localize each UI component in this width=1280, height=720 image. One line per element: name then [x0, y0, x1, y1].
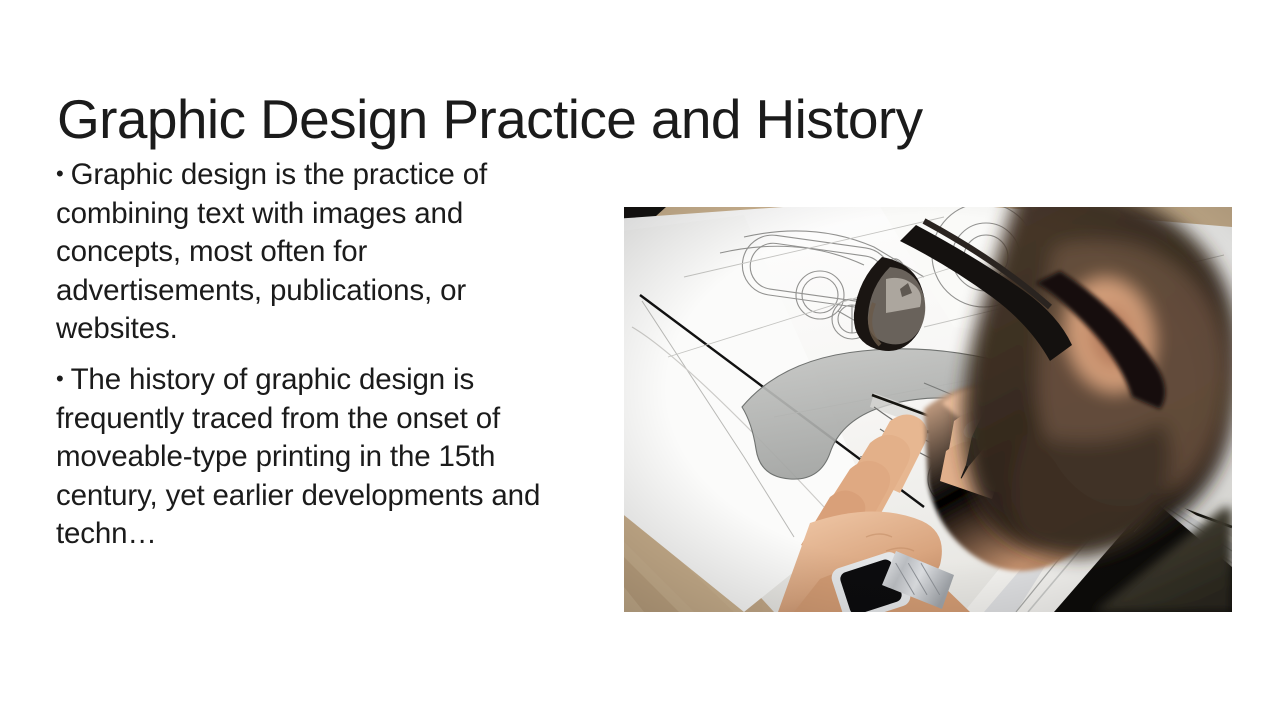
bullet-list: •Graphic design is the practice of combi…	[56, 156, 581, 554]
bullet-icon: •	[56, 366, 71, 391]
list-item-text: Graphic design is the practice of combin…	[56, 158, 487, 345]
list-item: •Graphic design is the practice of combi…	[56, 156, 581, 349]
slide-photo: STAEDTLER	[624, 207, 1232, 612]
list-item-text: The history of graphic design is frequen…	[56, 363, 540, 550]
slide: Graphic Design Practice and History •Gra…	[0, 0, 1280, 720]
page-title: Graphic Design Practice and History	[57, 89, 1157, 150]
list-item: •The history of graphic design is freque…	[56, 361, 581, 554]
bullet-icon: •	[56, 161, 71, 186]
photo-illustration: STAEDTLER	[624, 207, 1232, 612]
